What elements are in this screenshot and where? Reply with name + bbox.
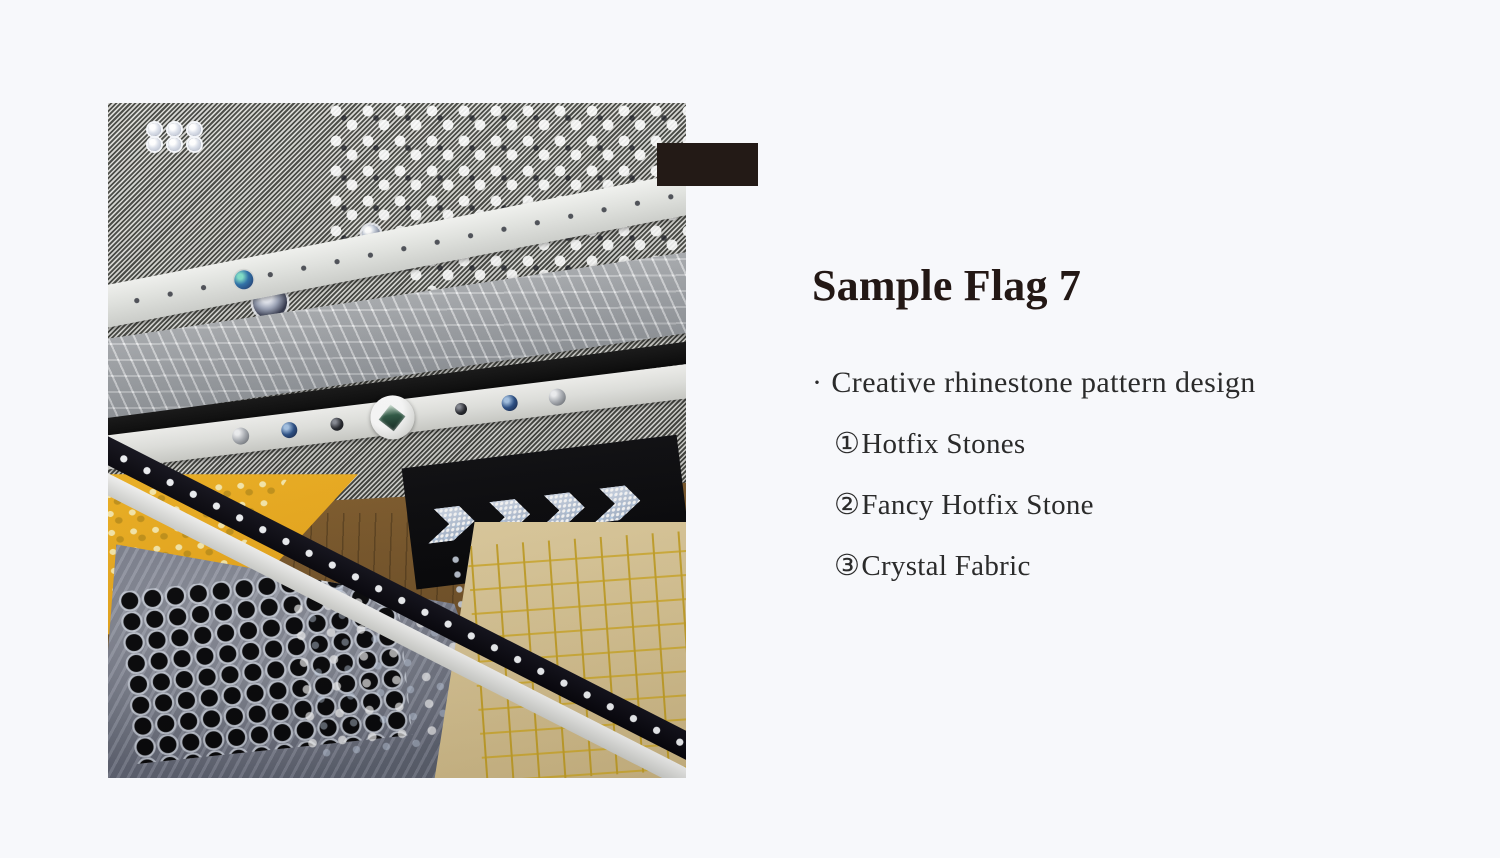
metal-stud	[231, 426, 250, 445]
list-item-label: Fancy Hotfix Stone	[861, 489, 1094, 521]
accent-rectangle	[657, 143, 758, 186]
navy-gem-stud	[280, 421, 298, 439]
page-title: Sample Flag 7	[812, 262, 1452, 310]
crystal-chevron	[593, 482, 642, 522]
bullet-lead-line: ·Creative rhinestone pattern design	[812, 365, 1452, 401]
circled-number-1-icon: ①	[834, 428, 860, 460]
crystal-cluster	[148, 123, 206, 151]
circled-number-2-icon: ②	[834, 489, 860, 521]
list-item: ③Crystal Fabric	[834, 549, 1452, 584]
crystal-chevron	[428, 503, 477, 543]
bullet-lead-label: Creative rhinestone pattern design	[831, 366, 1255, 399]
jet-stud	[454, 402, 467, 415]
jet-stud	[330, 416, 344, 430]
list-item-label: Crystal Fabric	[861, 550, 1030, 582]
middle-dot-icon: ·	[812, 366, 822, 399]
sample-photo	[108, 103, 686, 778]
slide-canvas: Sample Flag 7 ·Creative rhinestone patte…	[0, 0, 1500, 858]
list-item: ①Hotfix Stones	[834, 427, 1452, 462]
list-item: ②Fancy Hotfix Stone	[834, 488, 1452, 523]
list-item-label: Hotfix Stones	[861, 428, 1025, 460]
navy-gem-stud	[500, 394, 518, 412]
text-column: Sample Flag 7 ·Creative rhinestone patte…	[812, 262, 1452, 584]
bullet-list: ·Creative rhinestone pattern design ①Hot…	[812, 365, 1452, 583]
blue-gem	[233, 269, 255, 291]
circled-number-3-icon: ③	[834, 550, 860, 582]
metal-stud	[548, 387, 567, 406]
